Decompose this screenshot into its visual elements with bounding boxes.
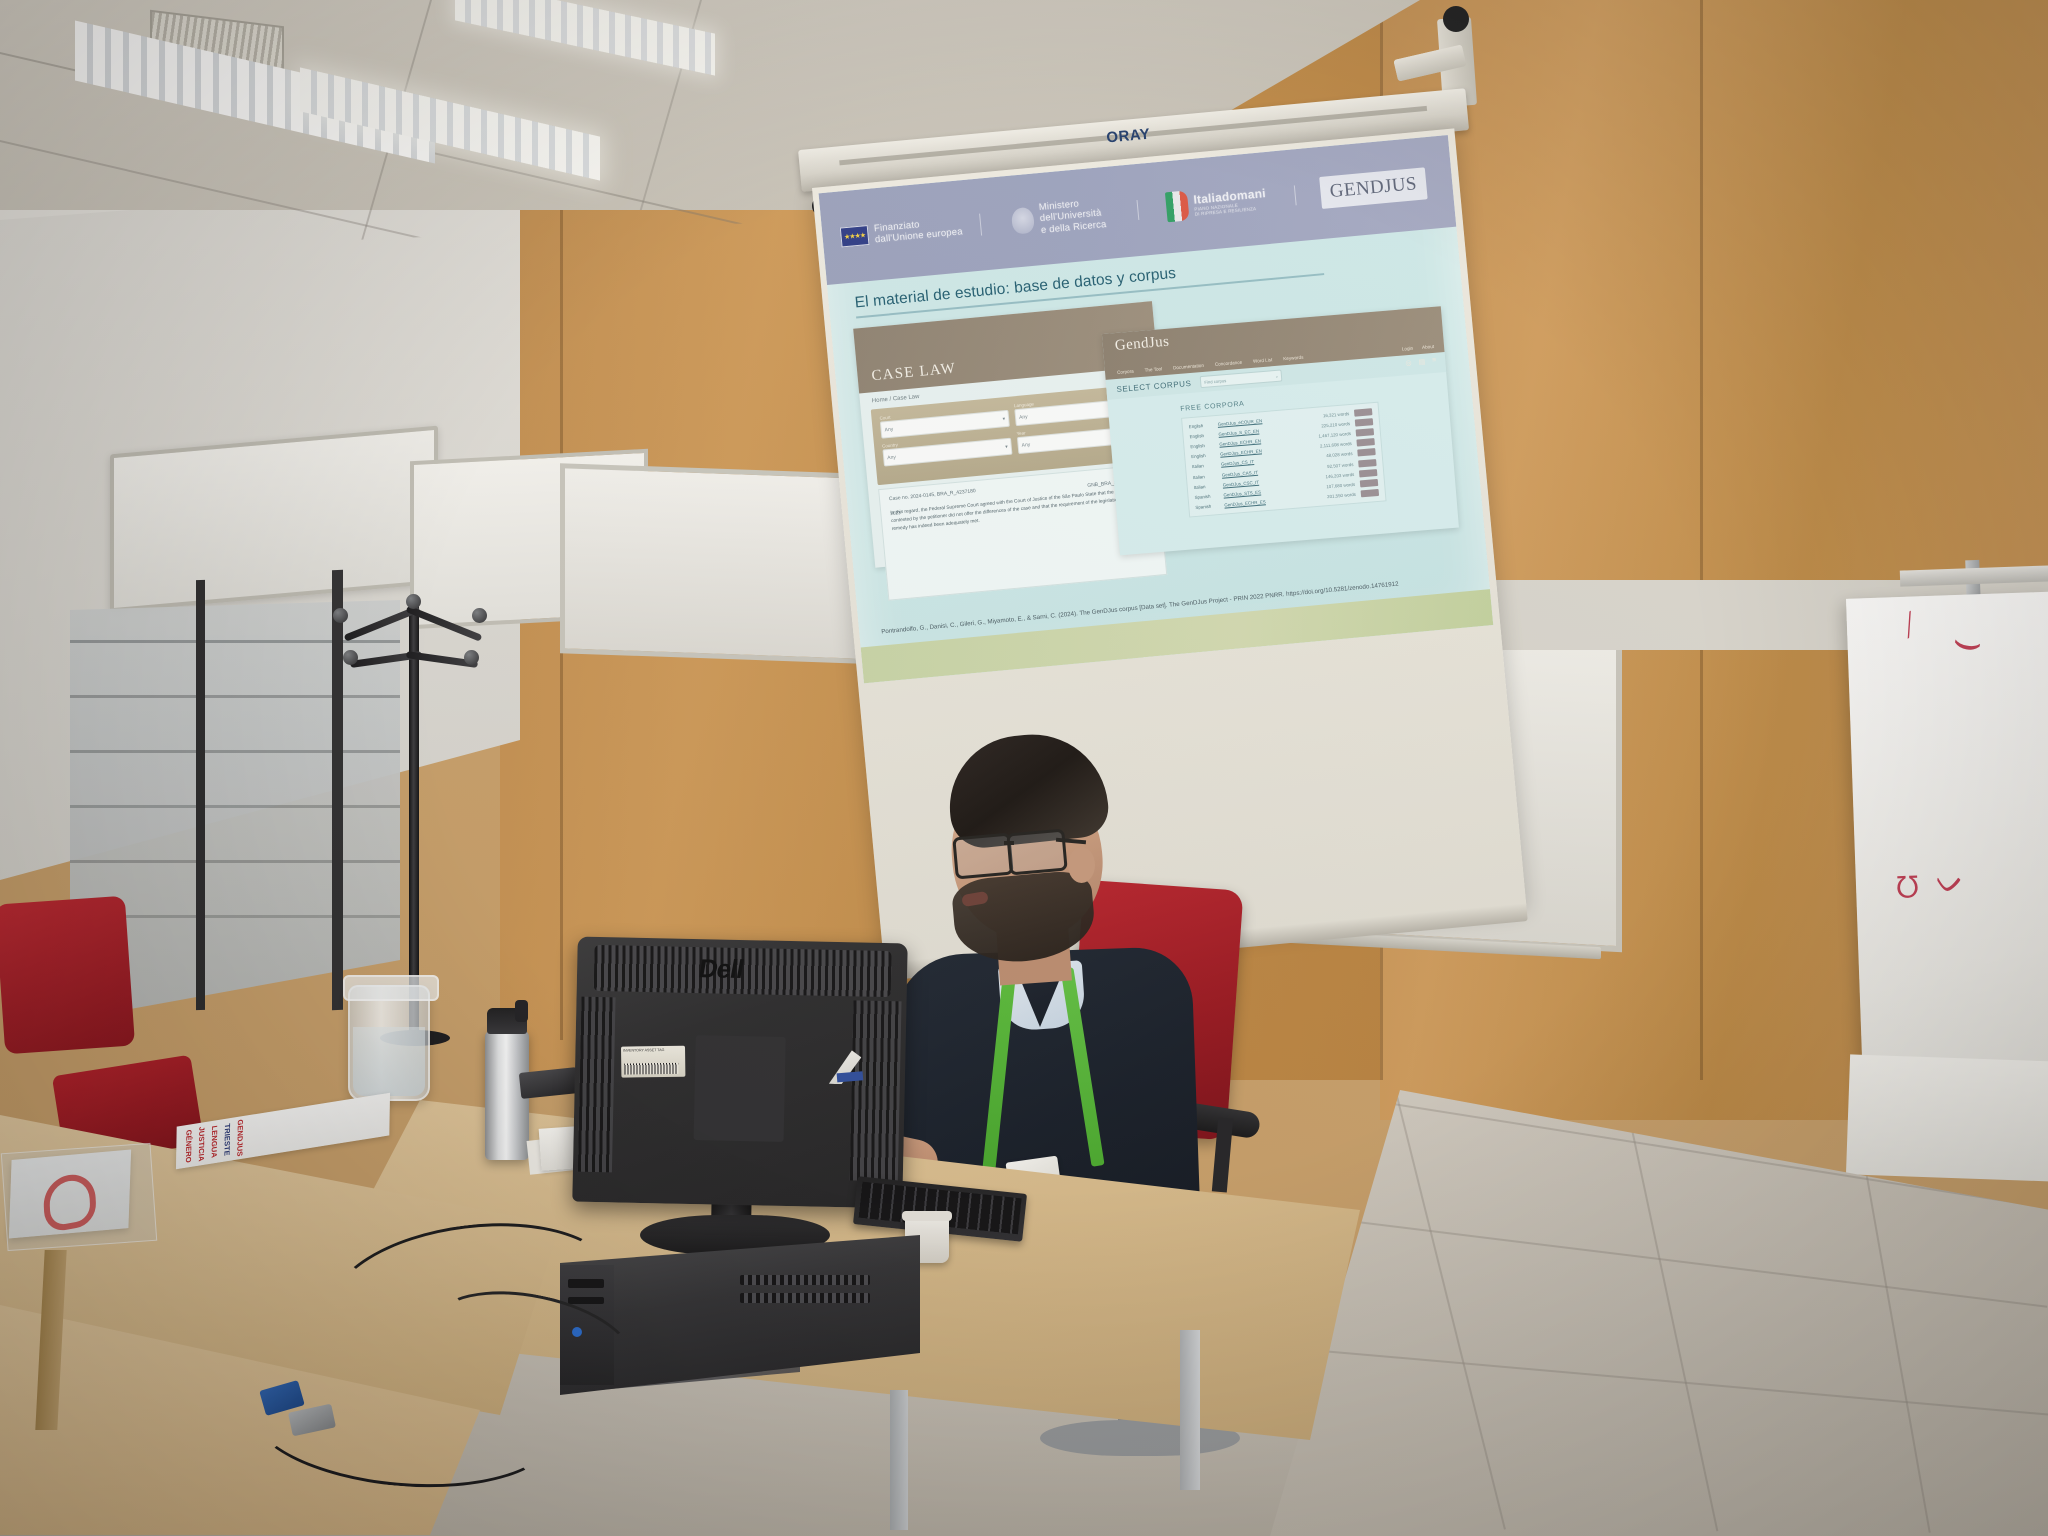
case-law-result-year: 2023 bbox=[890, 510, 901, 516]
corpus-open-button[interactable] bbox=[1356, 438, 1375, 446]
coat-rack-pole bbox=[409, 600, 419, 1040]
carafe-neck bbox=[343, 975, 439, 1001]
coat-rack-hook[interactable] bbox=[343, 650, 358, 665]
printed-flyer: GÉNERO JUSTICIA LENGUA TRIESTE GENDJUS bbox=[176, 1093, 390, 1169]
corpus-size: 201,550 words bbox=[1314, 492, 1356, 500]
coat-rack-top-knob bbox=[406, 594, 421, 609]
corpus-lang: English bbox=[1190, 442, 1214, 449]
coat-rack-hook[interactable] bbox=[464, 650, 479, 665]
gendjus-letters-end: END bbox=[1343, 176, 1385, 201]
barcode-icon bbox=[624, 1063, 678, 1075]
corpus-login-link[interactable]: Login bbox=[1402, 346, 1414, 352]
filter-value-country: Any bbox=[887, 454, 896, 461]
corpus-lang: Spanish bbox=[1195, 503, 1219, 510]
flyer-text-block: GENDJUS bbox=[235, 1119, 245, 1157]
whiteboard-left bbox=[110, 426, 438, 613]
power-adapter bbox=[519, 1067, 579, 1099]
name-card-holder bbox=[1, 1143, 157, 1251]
monitor-vesa-plate bbox=[694, 1035, 786, 1142]
corpus-logo-text: GendJus bbox=[1114, 334, 1170, 354]
oray-brand-label: ORAY bbox=[1106, 126, 1151, 147]
gendjus-letters-us: US bbox=[1391, 173, 1418, 196]
corpus-nav-item[interactable]: Corpora bbox=[1117, 369, 1134, 375]
corpus-open-button[interactable] bbox=[1358, 459, 1377, 467]
menu-icon[interactable]: ≡ bbox=[1432, 357, 1437, 365]
filter-value-language: Any bbox=[1019, 414, 1028, 421]
eu-funding-logo: ★★★★ Finanziato dall'Unione europea bbox=[822, 213, 981, 250]
flipchart-ink-stroke: ᘮ bbox=[1896, 871, 1920, 906]
screen-mount-knob-right bbox=[1443, 6, 1469, 32]
wall-seam bbox=[1700, 0, 1703, 1080]
presenter-eyeglasses-right-lens bbox=[1006, 829, 1067, 876]
flipchart-sheet: ⌣ ∕ ᘮ ᨆ bbox=[1846, 591, 2048, 1118]
bottle-tab-icon bbox=[515, 1000, 528, 1022]
flipchart-ink-stroke: ⌣ bbox=[1948, 612, 1987, 671]
corpus-open-button[interactable] bbox=[1361, 489, 1380, 497]
cup-lid bbox=[902, 1211, 952, 1221]
free-corpora-list: EnglishGenDJus_eCOUR_EN16,321 words Engl… bbox=[1181, 402, 1387, 518]
monitor-asset-text: INVENTORY ASSET TAG bbox=[623, 1048, 664, 1053]
projected-slide: ★★★★ Finanziato dall'Unione europea Mini… bbox=[819, 135, 1494, 683]
corpus-lang: English bbox=[1191, 452, 1215, 459]
monitor-asset-sticker: INVENTORY ASSET TAG bbox=[621, 1046, 685, 1078]
pc-rear-ports bbox=[740, 1275, 870, 1285]
pc-rear-ports bbox=[740, 1293, 870, 1303]
monitor-vents-right bbox=[850, 1000, 902, 1181]
gendjus-corpus-screenshot-panel: GendJus Corpora The Tool Documentation C… bbox=[1102, 306, 1459, 555]
window-frame bbox=[196, 580, 205, 1010]
chair-red-left-back[interactable] bbox=[0, 896, 135, 1055]
italy-flag-icon bbox=[1165, 190, 1190, 222]
search-icon: ⌕ bbox=[1276, 373, 1279, 378]
flipchart-ink-stroke: ᨆ bbox=[1935, 863, 1965, 902]
flyer-text-block: GÉNERO bbox=[184, 1129, 193, 1163]
list-icon[interactable]: ▤ bbox=[1418, 358, 1425, 367]
flyer-text-block: JUSTICIA bbox=[197, 1126, 206, 1162]
corpus-lang: Italian bbox=[1192, 463, 1216, 470]
corpus-search-placeholder: Find corpus bbox=[1204, 378, 1226, 385]
corpus-open-button[interactable] bbox=[1357, 448, 1376, 456]
presenter-eyeglasses-left-lens bbox=[952, 833, 1013, 880]
corpus-search-input[interactable]: Find corpus ⌕ bbox=[1200, 369, 1283, 388]
coat-rack-hook[interactable] bbox=[333, 608, 348, 623]
corpus-nav-right: Login About bbox=[1402, 344, 1435, 352]
corpus-nav-item[interactable]: Concordance bbox=[1215, 360, 1243, 367]
window-frame bbox=[332, 570, 343, 1010]
monitor-vents-left bbox=[578, 997, 616, 1173]
flipchart-sheet-lower bbox=[1846, 1054, 2048, 1181]
coat-rack-hook[interactable] bbox=[472, 608, 487, 623]
chevron-down-icon: ▾ bbox=[1005, 444, 1008, 450]
dell-monitor-rear: Dell INVENTORY ASSET TAG bbox=[572, 937, 907, 1209]
case-law-filter-country: Country Any▾ bbox=[882, 432, 1013, 467]
corpus-lang: English bbox=[1189, 422, 1213, 429]
select-corpus-label: SELECT CORPUS bbox=[1116, 378, 1192, 393]
gendjus-logo-cell: GENDJUS bbox=[1293, 165, 1453, 211]
filter-value-year: Any bbox=[1021, 441, 1030, 448]
presenter-ear bbox=[1068, 847, 1095, 883]
room-scene: ORAY ★★★★ Finanziato dall'Unione europea… bbox=[0, 0, 2048, 1536]
corpus-lang: Spanish bbox=[1194, 493, 1218, 500]
corpus-open-button[interactable] bbox=[1355, 418, 1374, 426]
mur-logo: Ministero dell'Università e della Ricerc… bbox=[979, 193, 1139, 241]
corpus-open-button[interactable] bbox=[1359, 469, 1378, 477]
carafe-water bbox=[353, 1027, 425, 1096]
corpus-lang: English bbox=[1189, 432, 1213, 439]
desk-leg bbox=[1180, 1330, 1200, 1490]
corpus-open-button[interactable] bbox=[1354, 408, 1373, 416]
corpus-gendjus-logo: GendJus bbox=[1114, 334, 1170, 355]
help-icon[interactable]: ◎ bbox=[1405, 359, 1412, 367]
flipchart-ink-stroke: ∕ bbox=[1897, 608, 1922, 643]
corpus-nav-item[interactable]: Documentation bbox=[1173, 363, 1204, 371]
filter-value-court: Any bbox=[884, 426, 893, 433]
corpus-nav-item[interactable]: Keywords bbox=[1283, 355, 1304, 362]
dell-logo: Dell bbox=[696, 953, 745, 985]
ceiling-light-fixture bbox=[455, 0, 715, 76]
case-law-title: CASE LAW bbox=[871, 361, 957, 386]
corpus-nav-item[interactable]: The Tool bbox=[1144, 366, 1162, 372]
corpus-open-button[interactable] bbox=[1356, 428, 1375, 436]
corpus-open-button[interactable] bbox=[1360, 479, 1379, 487]
flyer-text-block: LENGUA bbox=[210, 1125, 219, 1159]
republic-crest-icon bbox=[1011, 207, 1035, 235]
italiadomani-logo: Italiadomani PIANO NAZIONALE DI RIPRESA … bbox=[1136, 181, 1296, 225]
corpus-about-link[interactable]: About bbox=[1422, 344, 1434, 350]
chevron-down-icon: ▾ bbox=[1002, 416, 1005, 422]
presenter-eyeglasses-bridge bbox=[1004, 841, 1014, 845]
gendjus-logo: GENDJUS bbox=[1320, 167, 1428, 209]
corpus-lang: Italian bbox=[1194, 483, 1218, 490]
corpus-nav-item[interactable]: Word List bbox=[1253, 357, 1273, 364]
corpus-body: FREE CORPORA EnglishGenDJus_eCOUR_EN16,3… bbox=[1107, 372, 1456, 523]
corpus-lang: Italian bbox=[1193, 473, 1217, 480]
desk-leg bbox=[890, 1390, 908, 1530]
eu-flag-icon: ★★★★ bbox=[840, 225, 870, 248]
flyer-text-block: TRIESTE bbox=[222, 1123, 231, 1157]
water-carafe[interactable] bbox=[348, 985, 430, 1101]
